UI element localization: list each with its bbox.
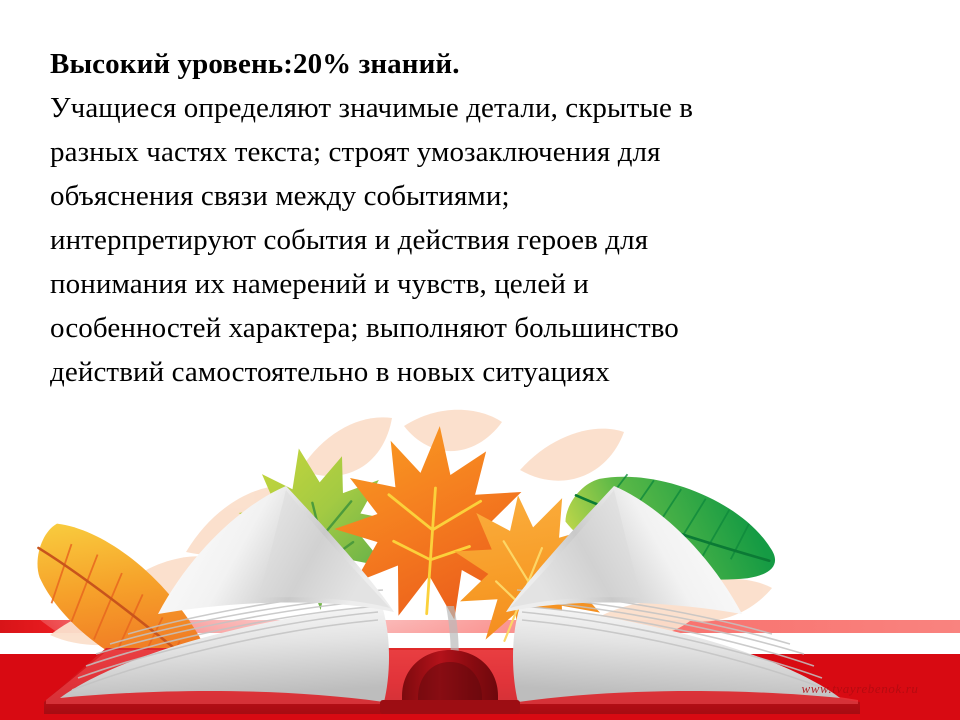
paragraph-line-5: понимания их намерений и чувств, целей и	[50, 262, 930, 306]
site-watermark: www.tvayrebenok.ru	[770, 681, 950, 697]
paragraph-line-2: разных частях текста; строят умозаключен…	[50, 130, 930, 174]
paragraph-line-6: особенностей характера; выполняют больши…	[50, 306, 930, 350]
slide-canvas: Высокий уровень:20% знаний. Учащиеся опр…	[0, 0, 960, 720]
open-book-illustration	[0, 400, 960, 720]
paragraph-line-7: действий самостоятельно в новых ситуация…	[50, 350, 930, 394]
paragraph-line-1: Учащиеся определяют значимые детали, скр…	[50, 86, 930, 130]
slide-heading: Высокий уровень:20% знаний.	[50, 42, 930, 86]
paragraph-line-4: интерпретируют события и действия героев…	[50, 218, 930, 262]
slide-text-block: Высокий уровень:20% знаний. Учащиеся опр…	[50, 42, 930, 394]
paragraph-line-3: объяснения связи между событиями;	[50, 174, 930, 218]
